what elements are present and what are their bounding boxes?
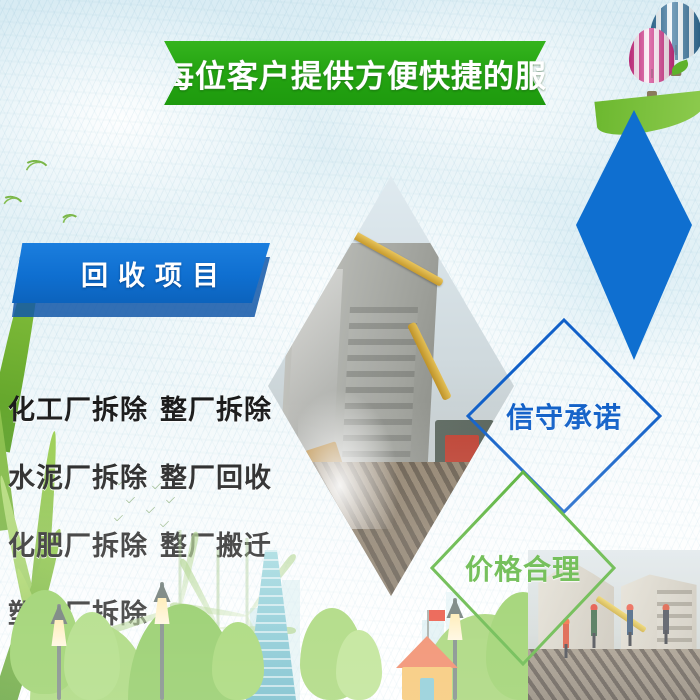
worker-legs	[628, 632, 631, 646]
house-door	[420, 678, 435, 700]
balloon-rope	[676, 45, 677, 55]
worker-legs	[664, 630, 667, 644]
poster-canvas: 为每位客户提供方便快捷的服务 回收项目 化工厂拆除 水泥厂拆除 化肥厂拆除 塑料…	[0, 0, 700, 700]
section-title-banner: 回收项目	[12, 243, 270, 303]
banner-face: 回收项目	[12, 243, 270, 303]
worker-figure	[626, 604, 633, 646]
street-lamp-icon	[152, 582, 172, 700]
service-item[interactable]: 化工厂拆除	[8, 388, 148, 427]
badge-label: 信守承诺	[506, 396, 622, 436]
badge-label: 价格合理	[465, 548, 581, 588]
balloon-rope	[652, 69, 653, 79]
bird-icon	[59, 213, 80, 230]
headline-text: 为每位客户提供方便快捷的服务	[131, 51, 579, 96]
section-title-text: 回收项目	[53, 254, 229, 293]
tree-icon	[336, 630, 382, 700]
bird-icon	[21, 158, 52, 184]
headline-ribbon: 为每位客户提供方便快捷的服务	[164, 41, 546, 105]
hot-air-balloon-pink	[629, 28, 675, 98]
tree-icon	[64, 612, 120, 700]
street-lamp-icon	[50, 604, 68, 700]
flag-pole	[427, 610, 429, 638]
badge-reasonable-price[interactable]: 价格合理	[430, 470, 616, 666]
worker-figure	[662, 604, 669, 644]
service-item[interactable]: 整厂拆除	[160, 388, 272, 427]
